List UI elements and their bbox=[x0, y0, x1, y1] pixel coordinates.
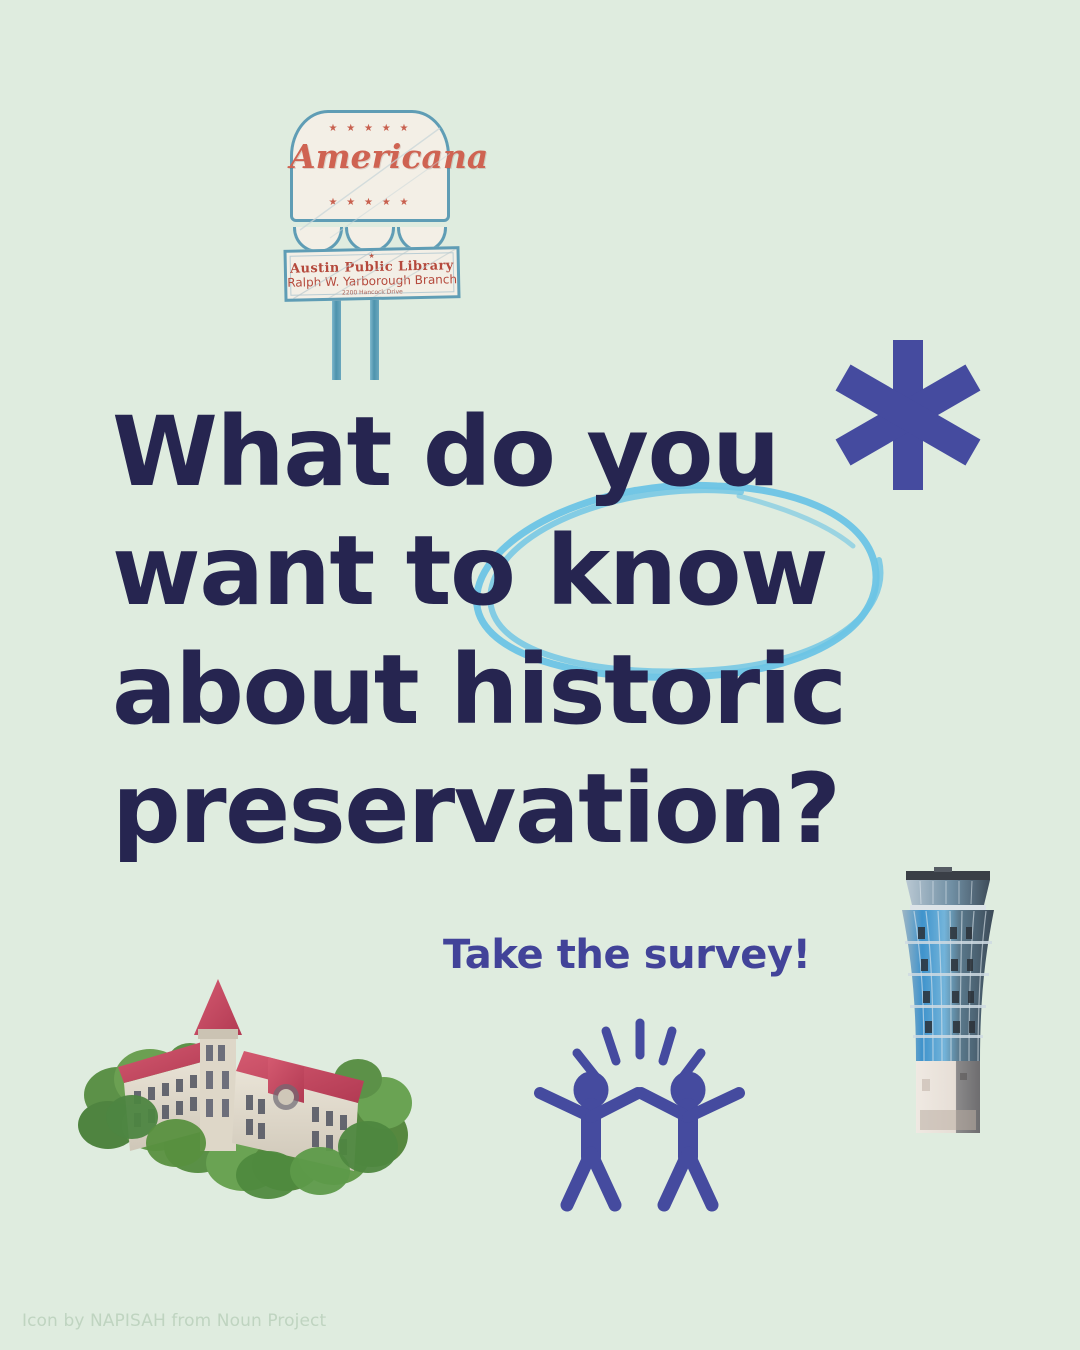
headline-line-2: want to know bbox=[112, 512, 872, 631]
headline-line-1: What do you bbox=[112, 393, 872, 512]
page-title: What do you want to know about historic … bbox=[112, 393, 872, 869]
celebrating-people-icon bbox=[520, 1005, 760, 1220]
sign-americana-text: Americana bbox=[290, 140, 450, 173]
sign-bottom-panel: ★ Austin Public Library Ralph W. Yarboro… bbox=[283, 246, 460, 302]
attribution-credit: Icon by NAPISAH from Noun Project bbox=[22, 1313, 326, 1330]
sign-branch-name: Ralph W. Yarborough Branch bbox=[287, 273, 457, 289]
headline-line-3: about historic bbox=[112, 631, 872, 750]
tower-roof bbox=[906, 871, 990, 880]
headline-line-4: preservation? bbox=[112, 750, 872, 869]
sign-top-panel: ★ ★ ★ ★ ★ Americana ★ ★ ★ ★ ★ bbox=[290, 110, 450, 240]
poster-canvas: ★ ★ ★ ★ ★ Americana ★ ★ ★ ★ ★ ★ Austin P… bbox=[0, 0, 1080, 1350]
vintage-library-sign-photo: ★ ★ ★ ★ ★ Americana ★ ★ ★ ★ ★ ★ Austin P… bbox=[282, 100, 462, 385]
tower-cab bbox=[906, 880, 990, 905]
historic-building-photo bbox=[72, 975, 422, 1215]
sign-stars-bottom: ★ ★ ★ ★ ★ bbox=[290, 198, 450, 208]
sign-stars-top: ★ ★ ★ ★ ★ bbox=[290, 124, 450, 134]
take-the-survey-label[interactable]: Take the survey! bbox=[443, 935, 811, 975]
air-traffic-control-tower-photo bbox=[888, 865, 1008, 1140]
